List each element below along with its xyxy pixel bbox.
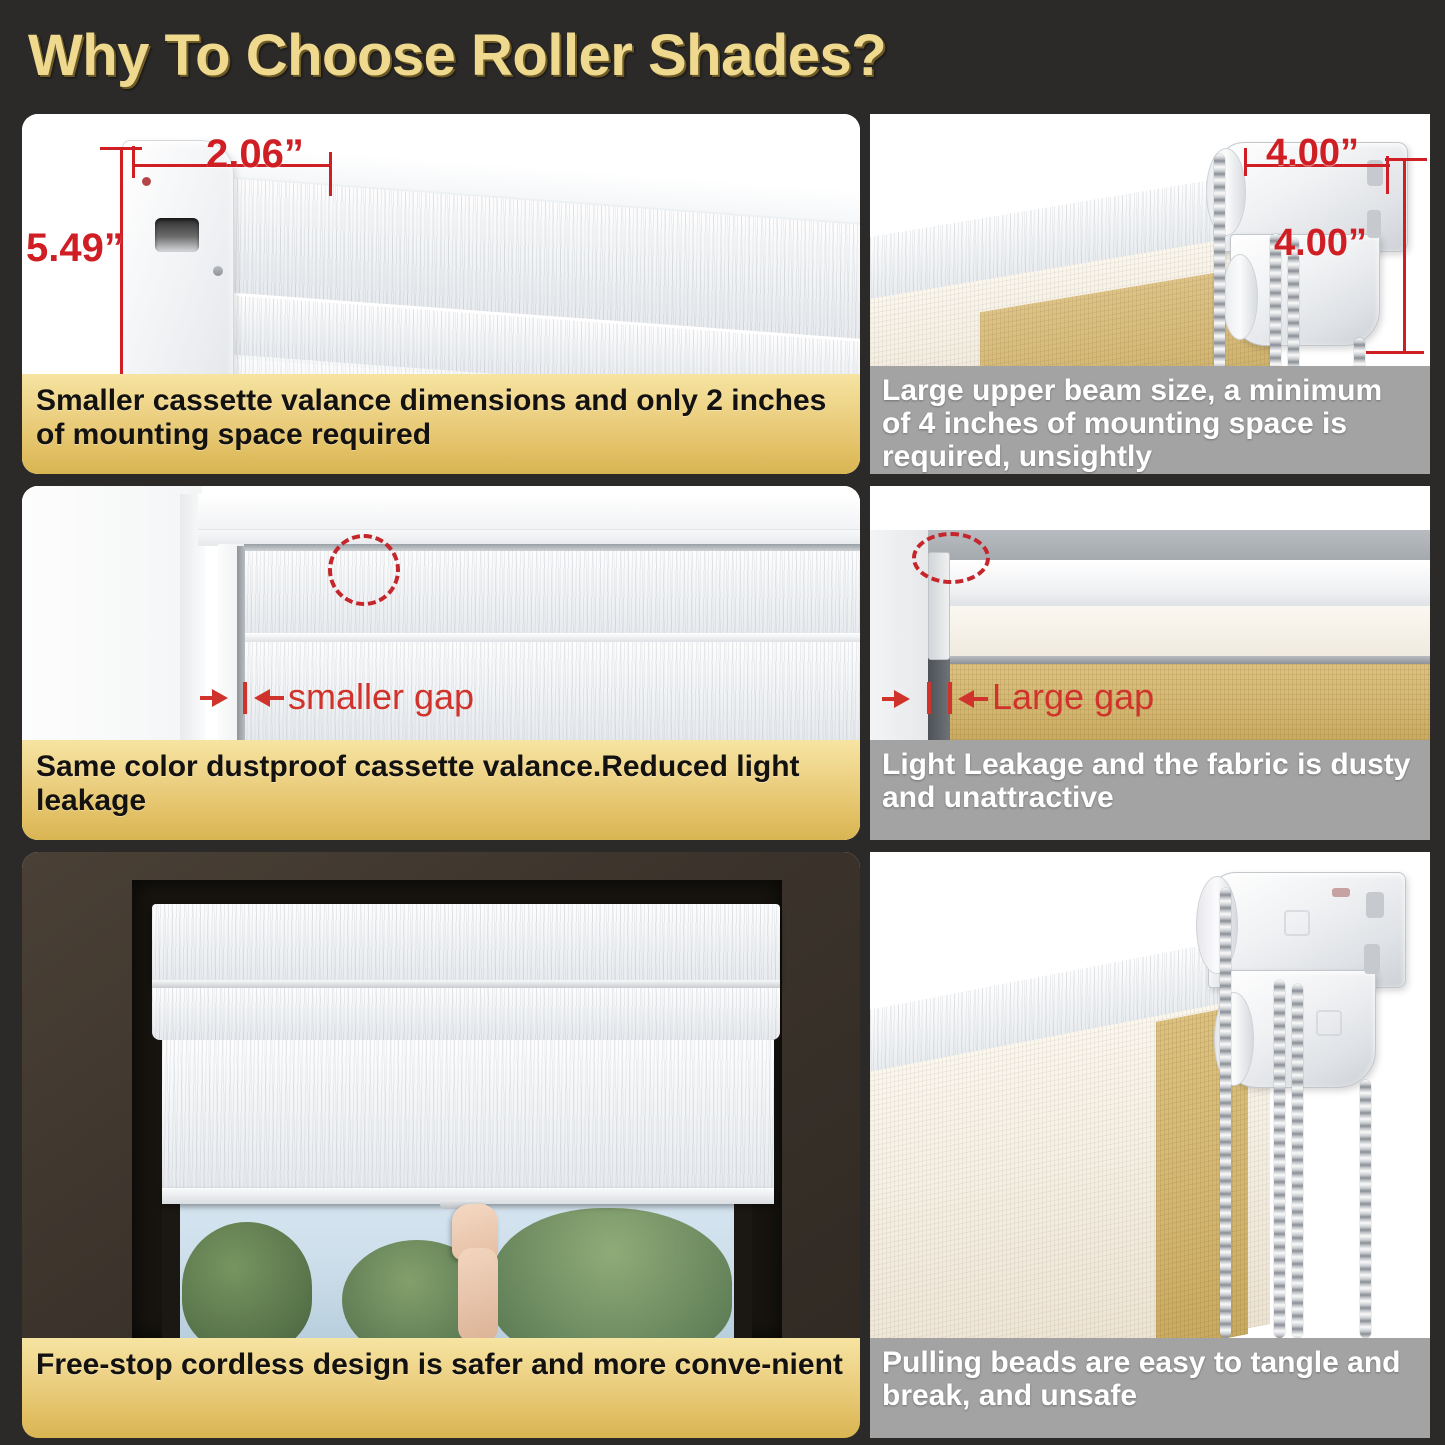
- gap-marker-bar: [243, 682, 247, 714]
- gap-arrow-stem-left-2: [882, 697, 896, 701]
- page-title: Why To Choose Roller Shades?: [28, 22, 886, 89]
- bracket-icon-bottom: [1316, 1010, 1342, 1036]
- end-cap-slot: [155, 218, 199, 252]
- gap-arrow-left-icon-2: [958, 690, 974, 708]
- ceiling-area: [870, 486, 1430, 530]
- headrail-lip: [152, 980, 780, 988]
- height-dim-line-2: [1403, 158, 1406, 354]
- height-dimension-label: 5.49”: [26, 226, 124, 271]
- beam-lower-face: [926, 606, 1430, 658]
- pull-chain-6b: [1274, 980, 1285, 1338]
- pull-chain-6a: [1220, 888, 1231, 1338]
- mullion-left: [162, 1182, 180, 1338]
- bracket-slot-2: [1367, 210, 1381, 238]
- tree-right: [492, 1208, 732, 1338]
- bracket-slot-6a: [1366, 892, 1384, 918]
- frame-top-casing: [198, 494, 860, 530]
- panel-6-caption: Pulling beads are easy to tangle and bre…: [870, 1338, 1430, 1438]
- end-cap-screw-top: [142, 177, 151, 186]
- highlight-circle-icon: [328, 534, 400, 606]
- height-dim-tick-top-2: [1385, 158, 1427, 161]
- panel-1-caption: Smaller cassette valance dimensions and …: [22, 374, 860, 474]
- gap-arrow-left-icon: [254, 689, 270, 707]
- large-gap-label: Large gap: [992, 676, 1154, 718]
- panel-grid: 5.49” 2.06” Smaller cassette valance dim…: [0, 108, 1445, 1445]
- panel-cordless-design: Free-stop cordless design is safer and m…: [22, 852, 860, 1438]
- bracket-marker: [1332, 888, 1350, 897]
- bracket-icon-top: [1284, 910, 1310, 936]
- panel-5-caption: Free-stop cordless design is safer and m…: [22, 1338, 860, 1438]
- panel-4-caption: Light Leakage and the fabric is dusty an…: [870, 740, 1430, 840]
- shade-fabric-main: [162, 1040, 774, 1194]
- upper-beam: [926, 560, 1430, 610]
- bracket-slot-6b: [1364, 944, 1380, 974]
- depth-dim-tick-left: [132, 146, 135, 178]
- roller-end-disc-lower: [1222, 254, 1258, 340]
- width-dimension-label: 4.00”: [1266, 132, 1359, 175]
- gap-arrow-stem-left: [200, 696, 214, 700]
- smaller-gap-label: smaller gap: [288, 676, 474, 718]
- depth-dimension-label: 2.06”: [206, 132, 304, 177]
- pull-chain-1: [1214, 154, 1225, 376]
- tree-left: [182, 1222, 312, 1338]
- panel-3-caption: Same color dustproof cassette valance.Re…: [22, 740, 860, 840]
- panel-pulling-beads: Pulling beads are easy to tangle and bre…: [870, 852, 1430, 1438]
- gap-arrow-stem-right-2: [974, 697, 988, 701]
- gap-arrow-right-icon-2: [894, 690, 910, 708]
- panel-light-leakage: Large gap Light Leakage and the fabric i…: [870, 486, 1430, 840]
- pull-chain-6d: [1360, 1080, 1371, 1338]
- hand-forearm: [458, 1248, 498, 1342]
- height-dim-tick-bottom-2: [1366, 351, 1424, 354]
- panel-2-caption: Large upper beam size, a minimum of 4 in…: [870, 366, 1430, 474]
- roller-end-disc-6a: [1196, 876, 1238, 974]
- gap-arrow-right-icon: [212, 689, 228, 707]
- gap-marker-bar-left: [927, 682, 931, 714]
- end-cap-screw-mid: [213, 266, 223, 276]
- large-gap-strip: [928, 658, 950, 740]
- mullion-right: [734, 1182, 752, 1338]
- panel-dustproof-valance: smaller gap Same color dustproof cassett…: [22, 486, 860, 840]
- panel-large-upper-beam: 4.00” 4.00” Large upper beam size, a min…: [870, 114, 1430, 474]
- highlight-circle-icon-2: [912, 532, 990, 584]
- roller-end-disc-upper: [1206, 148, 1246, 236]
- width-dim-tick-right: [1386, 156, 1389, 194]
- infographic-root: Why To Choose Roller Shades?: [0, 0, 1445, 1445]
- pull-chain-6c: [1292, 984, 1303, 1338]
- gap-marker-bar-right: [948, 682, 952, 714]
- beam-bottom-edge: [926, 656, 1430, 664]
- valance-bottom-edge: [244, 633, 860, 642]
- height-dim-tick-top: [100, 147, 142, 150]
- cassette-headrail: [152, 904, 780, 984]
- panel-smaller-cassette: 5.49” 2.06” Smaller cassette valance dim…: [22, 114, 860, 474]
- gap-arrow-stem-right: [270, 696, 284, 700]
- wall-surface: [22, 486, 202, 740]
- height-dimension-label-2: 4.00”: [1274, 222, 1367, 265]
- depth-dim-tick-right: [329, 152, 332, 196]
- width-dim-tick-left: [1244, 148, 1247, 176]
- headrail-roll: [152, 988, 780, 1040]
